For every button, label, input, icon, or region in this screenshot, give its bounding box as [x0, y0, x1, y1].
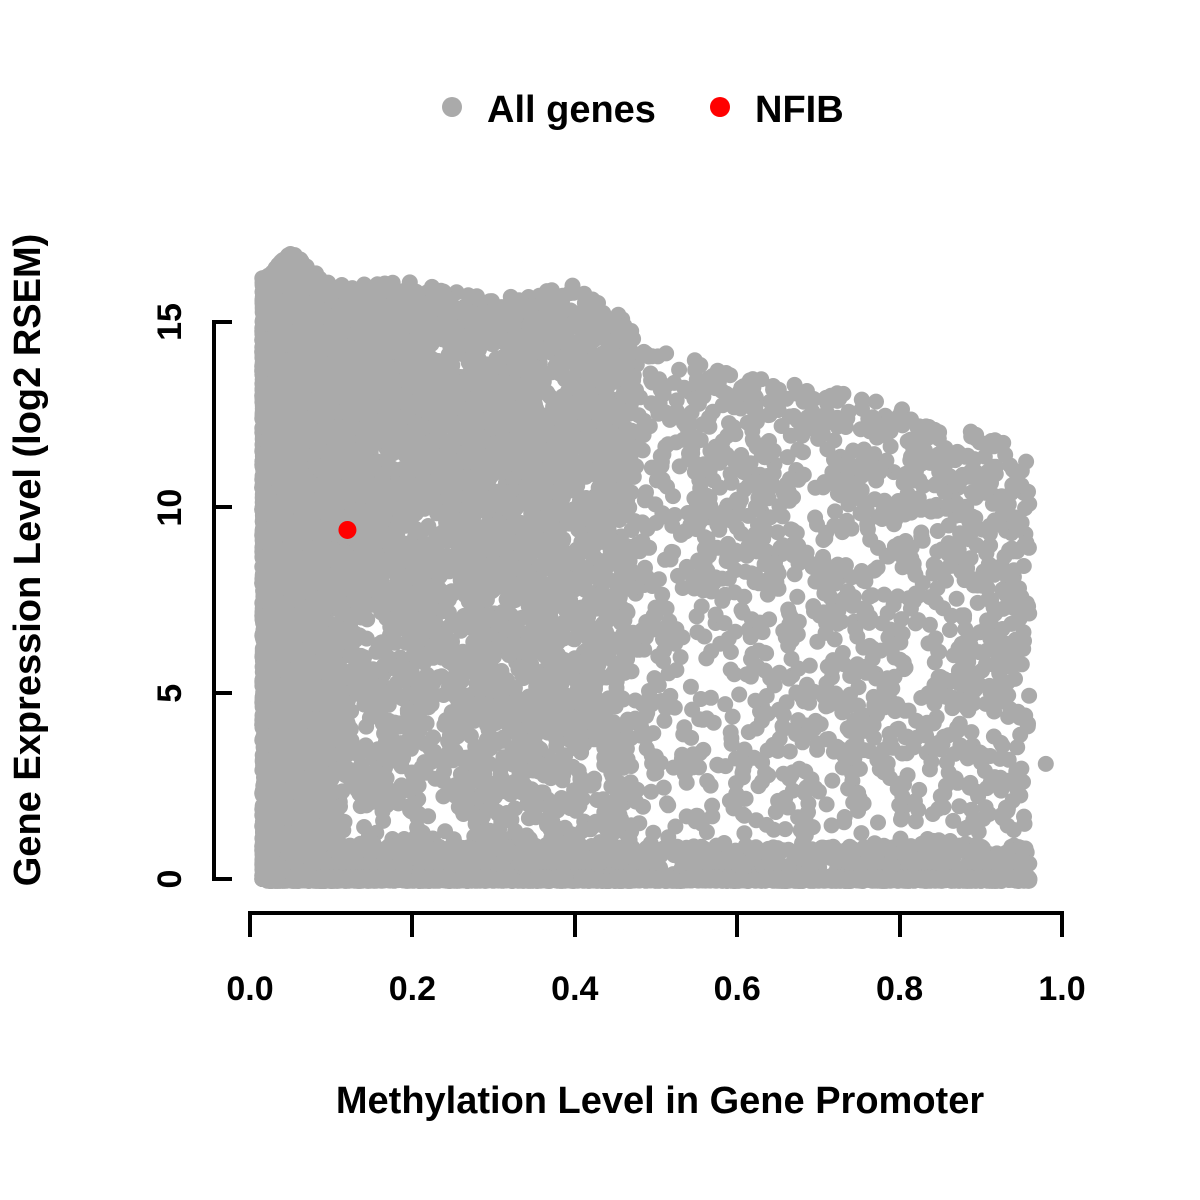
x-tick-label: 0.4	[551, 970, 598, 1008]
y-tick-label: 5	[151, 684, 189, 703]
y-tick-label: 0	[151, 870, 189, 889]
scatter-plot-figure: 051015 0.00.20.40.60.81.0 Methylation Le…	[0, 0, 1200, 1200]
x-axis-title: Methylation Level in Gene Promoter	[336, 1080, 984, 1122]
legend: All genes NFIB	[442, 89, 844, 131]
y-axis-line	[214, 322, 232, 879]
y-axis-title: Gene Expression Level (log2 RSEM)	[7, 234, 49, 887]
red-dot-marker	[710, 97, 730, 117]
x-tick-label: 1.0	[1038, 970, 1085, 1008]
x-tick-label-group: 0.00.20.40.60.81.0	[226, 970, 1085, 1008]
y-tick-label-group: 051015	[151, 303, 189, 888]
plot-canvas: 051015 0.00.20.40.60.81.0 Methylation Le…	[0, 0, 1200, 1200]
x-axis	[250, 913, 1062, 937]
y-tick-label: 10	[151, 489, 189, 527]
legend-label-all-genes: All genes	[487, 89, 656, 131]
y-tick-label: 15	[151, 303, 189, 341]
nfib-point	[338, 521, 356, 539]
x-tick-label: 0.6	[714, 970, 761, 1008]
y-axis	[214, 322, 232, 879]
x-tick-label: 0.2	[389, 970, 436, 1008]
x-tick-label: 0.0	[226, 970, 273, 1008]
all-genes-point-cloud	[254, 246, 1054, 889]
gray-dot-marker	[442, 97, 462, 117]
x-axis-line	[250, 913, 1062, 937]
nfib-highlight-point	[338, 521, 356, 539]
legend-label-nfib: NFIB	[755, 89, 844, 131]
x-tick-label: 0.8	[876, 970, 923, 1008]
